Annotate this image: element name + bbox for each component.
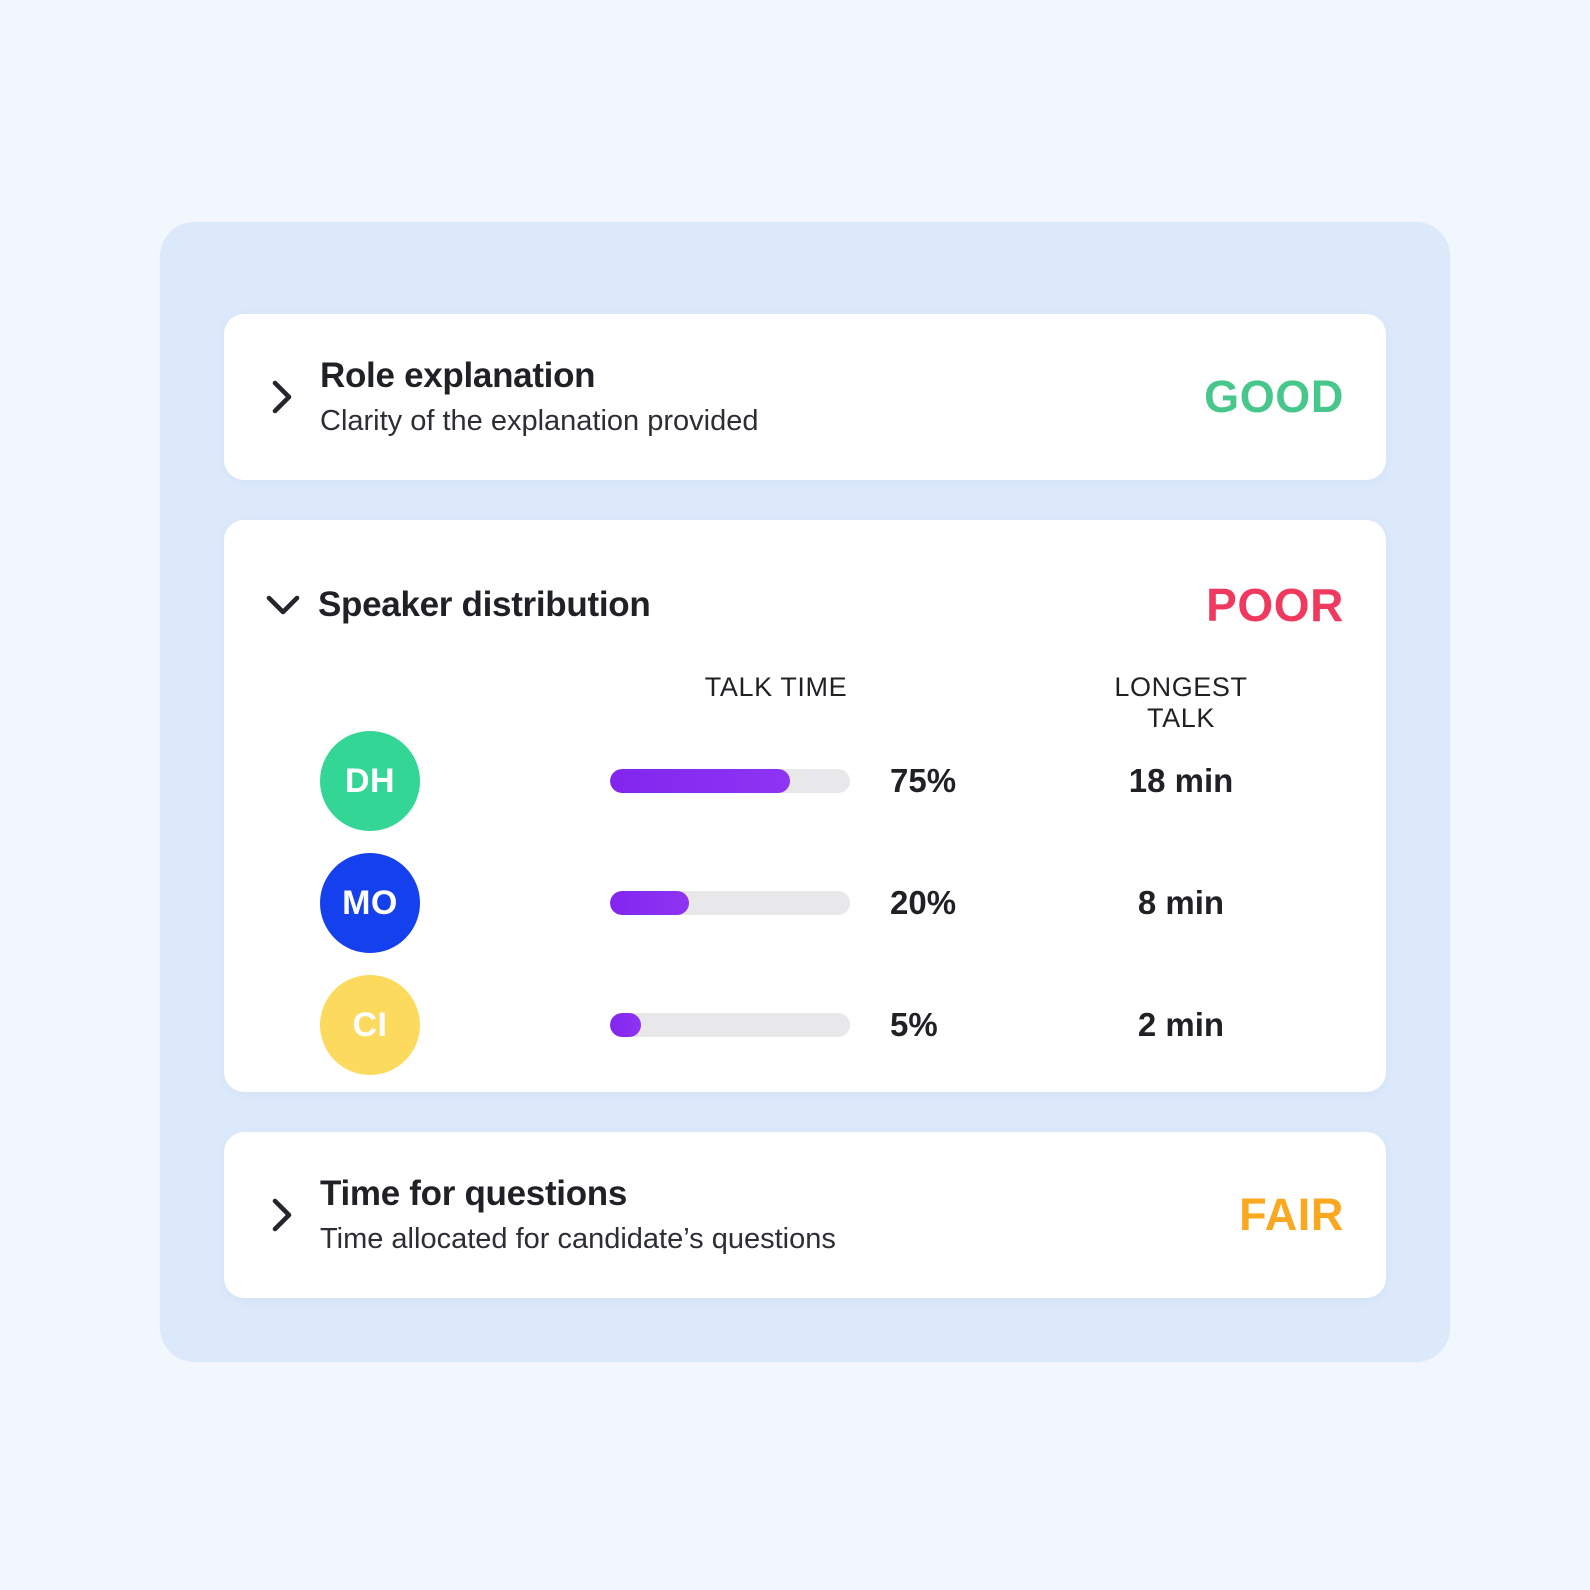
longest-talk-value: 2 min xyxy=(1138,1006,1224,1044)
talk-time-value: 20% xyxy=(890,884,956,922)
section-card-role-explanation[interactable]: Role explanation Clarity of the explanat… xyxy=(224,314,1386,480)
avatar[interactable]: CI xyxy=(320,975,420,1075)
talk-time-value: 5% xyxy=(890,1006,938,1044)
avatar[interactable]: MO xyxy=(320,853,420,953)
screenshot-root: Role explanation Clarity of the explanat… xyxy=(0,0,1590,1590)
section-title: Time for questions xyxy=(320,1173,1134,1214)
section-card-speaker-distribution[interactable]: Speaker distribution POOR TALK TIME LONG… xyxy=(224,520,1386,1092)
talk-time-progress-track xyxy=(610,891,850,915)
talk-time-progress-fill xyxy=(610,769,790,793)
talk-time-progress-fill xyxy=(610,891,689,915)
chevron-right-icon[interactable] xyxy=(266,380,300,414)
longest-talk-value: 18 min xyxy=(1129,762,1234,800)
section-subtitle: Time allocated for candidate’s questions xyxy=(320,1222,1134,1257)
section-title-block: Time for questions Time allocated for ca… xyxy=(320,1173,1134,1257)
table-row[interactable]: CI 5% 2 min xyxy=(224,964,1386,1086)
section-title-block: Role explanation Clarity of the explanat… xyxy=(320,355,1134,439)
status-badge: POOR xyxy=(1134,578,1344,632)
section-title: Speaker distribution xyxy=(318,584,1134,625)
chevron-right-icon[interactable] xyxy=(266,1198,300,1232)
section-header-time-for-questions[interactable]: Time for questions Time allocated for ca… xyxy=(224,1132,1386,1298)
status-badge: FAIR xyxy=(1134,1189,1344,1241)
status-badge: GOOD xyxy=(1134,371,1344,423)
section-card-time-for-questions[interactable]: Time for questions Time allocated for ca… xyxy=(224,1132,1386,1298)
speaker-list: DH 75% 18 min MO 20% 8 min CI xyxy=(224,720,1386,1086)
talk-time-progress-track xyxy=(610,1013,850,1037)
avatar[interactable]: DH xyxy=(320,731,420,831)
table-column-headers: TALK TIME LONGEST TALK xyxy=(224,672,1386,706)
section-title: Role explanation xyxy=(320,355,1134,396)
table-row[interactable]: DH 75% 18 min xyxy=(224,720,1386,842)
section-title-block: Speaker distribution xyxy=(318,584,1134,625)
section-header-speaker-distribution[interactable]: Speaker distribution POOR xyxy=(266,578,1344,632)
section-header-role-explanation[interactable]: Role explanation Clarity of the explanat… xyxy=(224,314,1386,480)
section-subtitle: Clarity of the explanation provided xyxy=(320,404,1134,439)
talk-time-value: 75% xyxy=(890,762,956,800)
column-header-talk-time: TALK TIME xyxy=(705,672,847,703)
longest-talk-value: 8 min xyxy=(1138,884,1224,922)
chevron-down-icon[interactable] xyxy=(266,588,300,622)
talk-time-progress-fill xyxy=(610,1013,641,1037)
table-row[interactable]: MO 20% 8 min xyxy=(224,842,1386,964)
talk-time-progress-track xyxy=(610,769,850,793)
